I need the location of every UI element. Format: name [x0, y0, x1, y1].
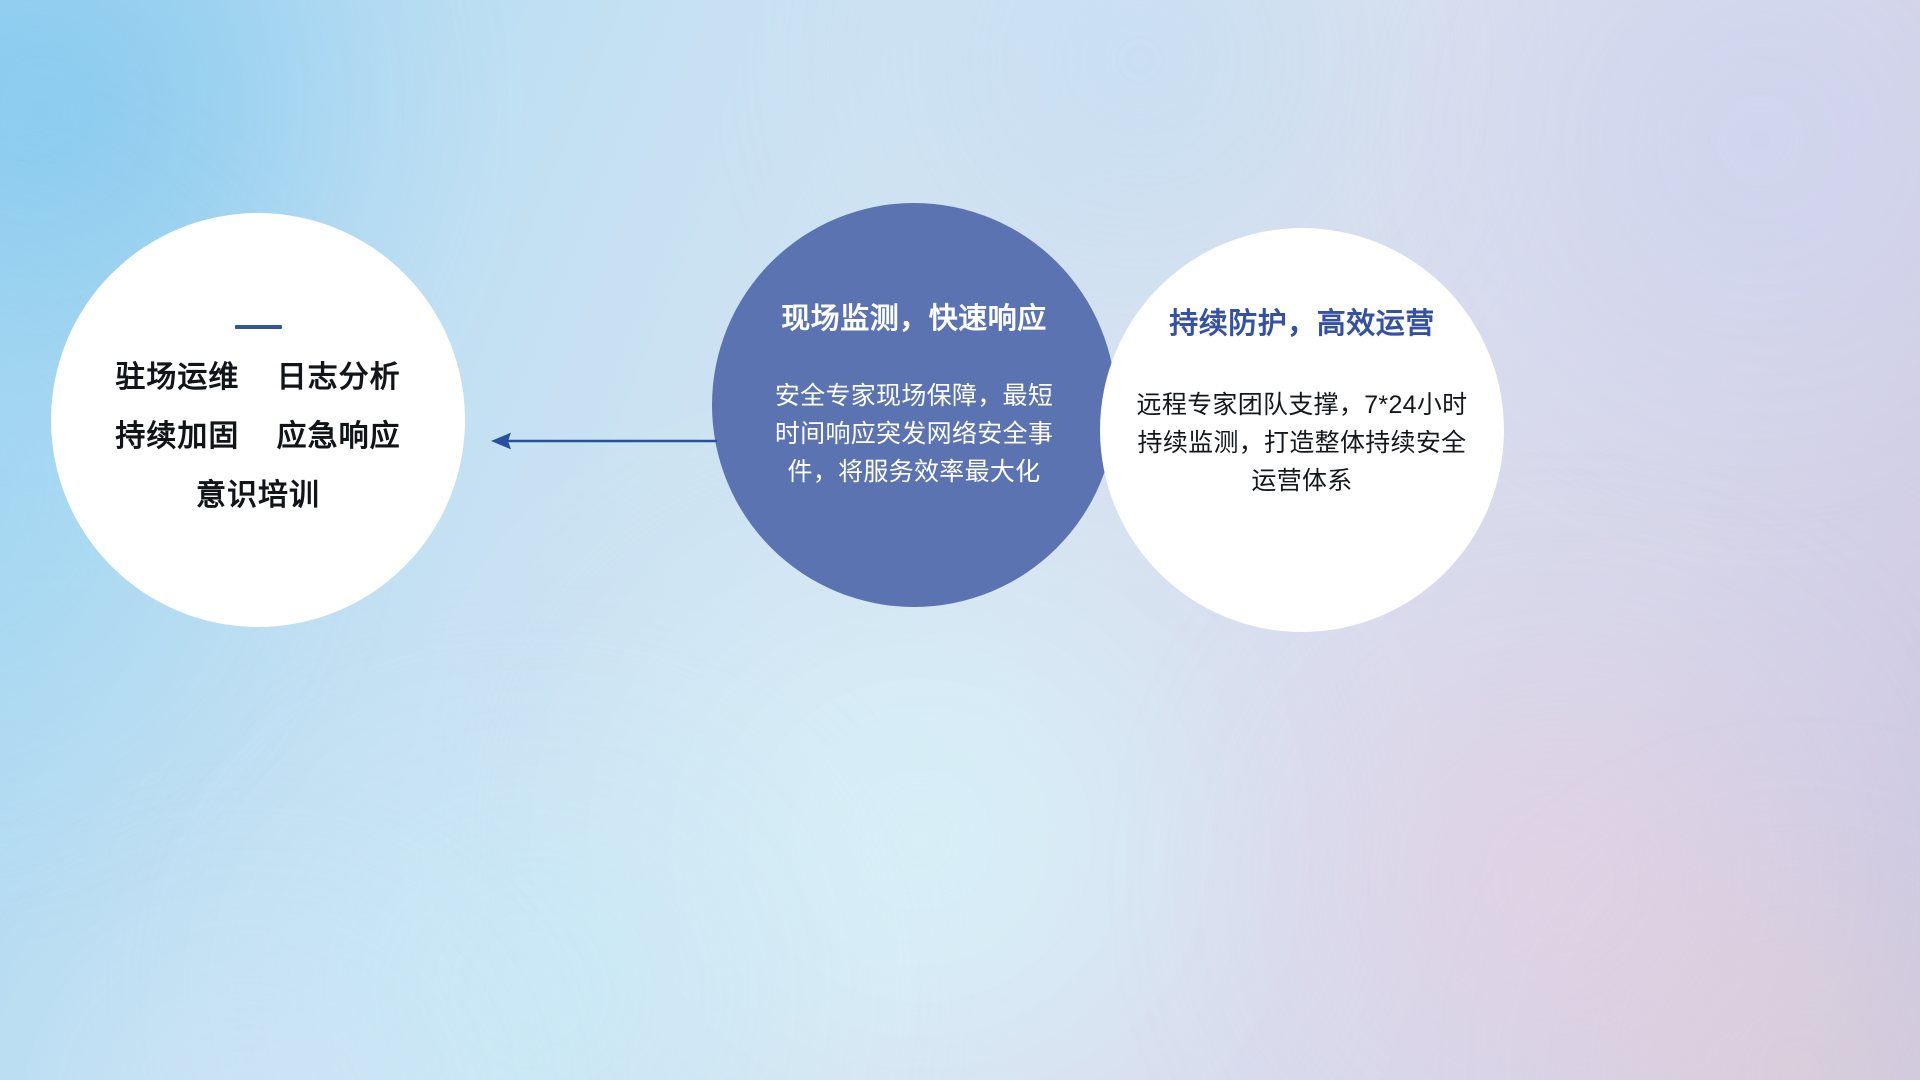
left-circle-text-block: 驻场运维 日志分析 持续加固 应急响应 意识培训 — [51, 363, 465, 511]
arrow-left-icon — [485, 420, 720, 462]
left-circle-line-3: 意识培训 — [51, 481, 465, 511]
slide-canvas: 现场监测，快速响应 安全专家现场保障，最短时间响应突发网络安全事件，将服务效率最… — [0, 0, 1920, 1080]
middle-circle-title: 现场监测，快速响应 — [781, 295, 1047, 337]
middle-circle-body: 安全专家现场保障，最短时间响应突发网络安全事件，将服务效率最大化 — [764, 377, 1064, 491]
left-circle-line-1: 驻场运维 日志分析 — [51, 363, 465, 393]
right-circle-card[interactable]: 持续防护，高效运营 远程专家团队支撑，7*24小时持续监测，打造整体持续安全运营… — [1100, 228, 1504, 632]
right-circle-title: 持续防护，高效运营 — [1169, 300, 1435, 342]
left-circle-card[interactable]: 驻场运维 日志分析 持续加固 应急响应 意识培训 — [51, 213, 465, 627]
divider-dash — [235, 325, 282, 329]
middle-circle-card[interactable]: 现场监测，快速响应 安全专家现场保障，最短时间响应突发网络安全事件，将服务效率最… — [712, 203, 1116, 607]
left-circle-line-2: 持续加固 应急响应 — [51, 422, 465, 452]
right-circle-body: 远程专家团队支撑，7*24小时持续监测，打造整体持续安全运营体系 — [1132, 386, 1472, 500]
